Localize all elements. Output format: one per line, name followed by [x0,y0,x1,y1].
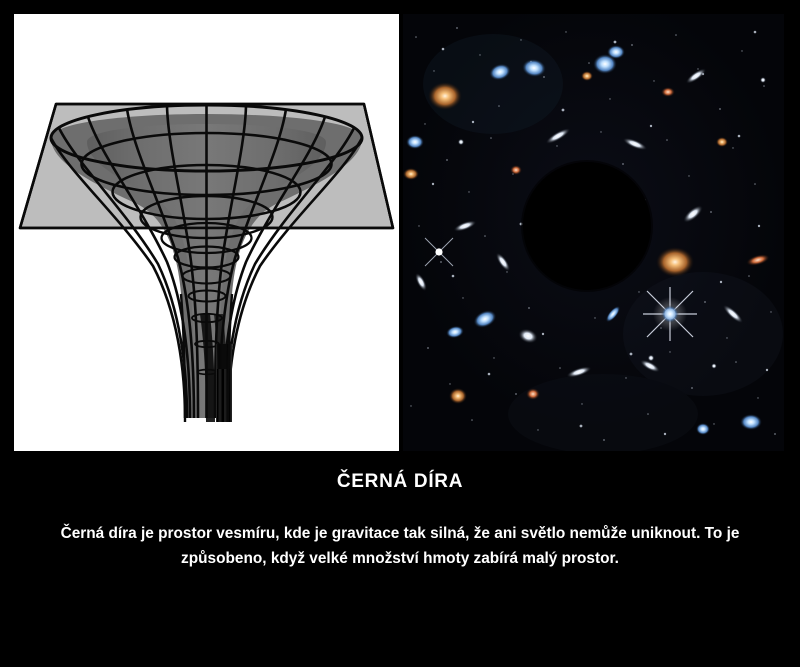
spacetime-curvature-diagram [14,14,399,451]
image-row [0,0,800,455]
deep-field-black-hole-photo [403,14,784,451]
diffraction-spike-star [643,287,697,341]
funnel-svg [14,14,399,451]
poster-root: ČERNÁ DÍRA Černá díra je prostor vesmíru… [0,0,800,667]
page-title: ČERNÁ DÍRA [0,471,800,493]
description-text: Černá díra je prostor vesmíru, kde je gr… [22,521,778,571]
caption-block: ČERNÁ DÍRA Černá díra je prostor vesmíru… [0,455,800,667]
deep-field-svg [403,14,784,451]
black-hole-disc [521,160,653,292]
